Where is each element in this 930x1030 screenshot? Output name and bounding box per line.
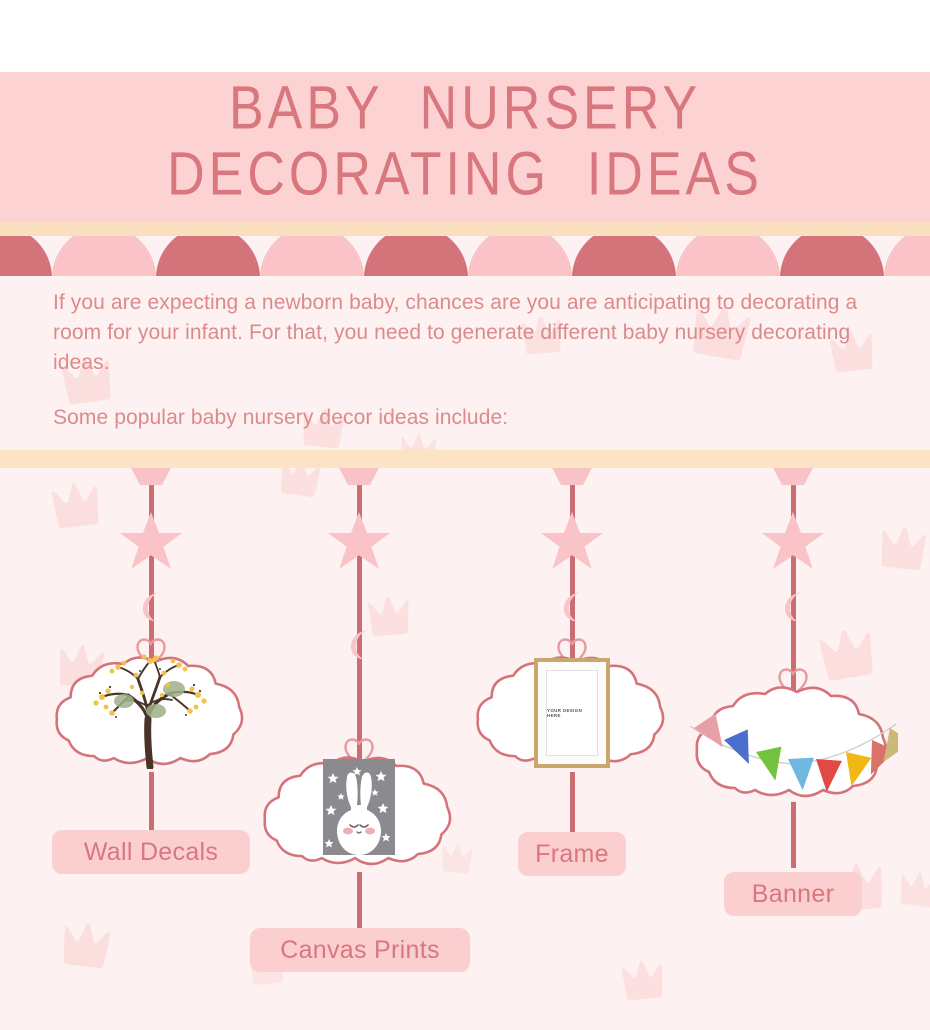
crescent-moon-icon [779, 590, 807, 624]
label-pill-canvas-prints[interactable]: Canvas Prints [250, 928, 470, 972]
infographic-page: BABY NURSERY DECORATING IDEAS If you are… [0, 0, 930, 1030]
cloud-artwork-slot [693, 682, 893, 806]
intro-text-block: If you are expecting a newborn baby, cha… [53, 288, 893, 433]
illustration-area: Wall DecalsCanvas PrintsYOUR DESIGN HERE… [0, 450, 930, 1030]
label-text: Canvas Prints [280, 936, 440, 965]
cloud-stem-string [791, 802, 796, 868]
scallop-border [0, 212, 930, 276]
label-text: Frame [535, 840, 609, 869]
label-pill-wall-decals[interactable]: Wall Decals [52, 830, 250, 874]
bunting-banner-icon [688, 712, 898, 792]
moon-charm [779, 590, 807, 624]
label-text: Banner [752, 880, 834, 909]
label-pill-frame[interactable]: Frame [518, 832, 626, 876]
top-white-strip [0, 0, 930, 72]
crown-watermark-icon [398, 431, 438, 450]
intro-section: If you are expecting a newborn baby, cha… [0, 276, 930, 450]
title-line-1: BABY NURSERY [0, 78, 930, 141]
bunting-artwork [688, 712, 898, 797]
title-line-2: DECORATING IDEAS [0, 144, 930, 207]
label-pill-banner[interactable]: Banner [724, 872, 862, 916]
cream-divider-bar [0, 450, 930, 468]
intro-paragraph-1: If you are expecting a newborn baby, cha… [53, 288, 893, 377]
cloud-card-banner [693, 682, 893, 806]
page-title: BABY NURSERY DECORATING IDEAS [0, 78, 930, 197]
intro-paragraph-2: Some popular baby nursery decor ideas in… [53, 403, 893, 433]
label-text: Wall Decals [84, 838, 218, 867]
scallop-cream-bar [0, 222, 930, 236]
